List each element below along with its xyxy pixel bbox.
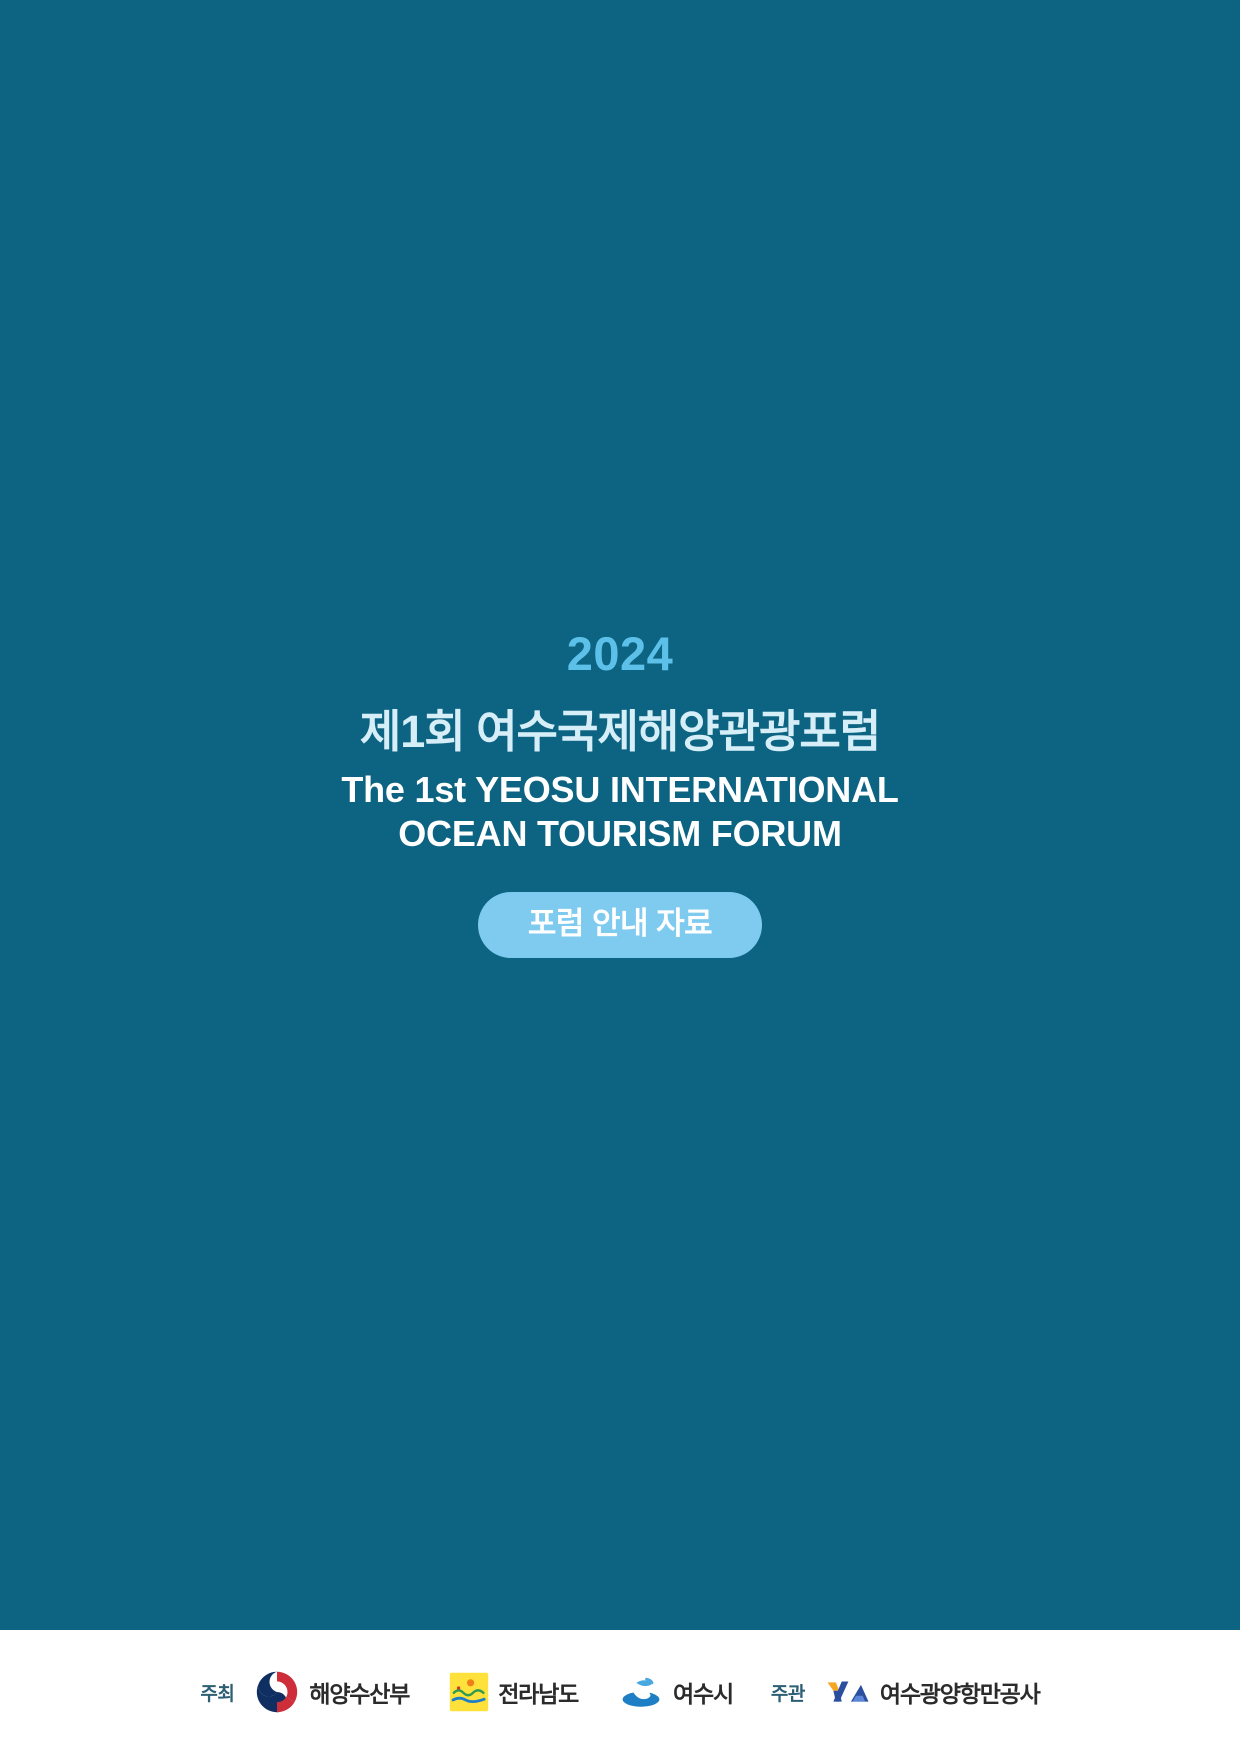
hero-section: 2024 제1회 여수국제해양관광포럼 The 1st YEOSU INTERN… [0, 0, 1240, 1630]
org-name-label: 전라남도 [498, 1675, 578, 1709]
host-label: 주최 [200, 1679, 234, 1706]
forum-title-korean: 제1회 여수국제해양관광포럼 [360, 707, 880, 757]
forum-title-english-line2: OCEAN TOURISM FORUM [341, 812, 898, 856]
forum-year: 2024 [567, 630, 674, 677]
host-group: 주최 해양수산부 [200, 1669, 733, 1715]
jeollanamdo-icon [449, 1672, 489, 1712]
forum-guide-material-button[interactable]: 포럼 안내 자료 [478, 892, 762, 958]
org-jeollanamdo[interactable]: 전라남도 [449, 1672, 578, 1712]
hero-content: 2024 제1회 여수국제해양관광포럼 The 1st YEOSU INTERN… [0, 630, 1240, 958]
org-ministry-of-oceans-and-fisheries[interactable]: 해양수산부 [254, 1669, 409, 1715]
org-yeosu-gwangyang-port-authority[interactable]: 여수광양항만공사 [825, 1669, 1040, 1715]
org-name-label: 여수광양항만공사 [880, 1675, 1040, 1709]
org-yeosu-city[interactable]: 여수시 [618, 1669, 733, 1715]
forum-title-english: The 1st YEOSU INTERNATIONAL OCEAN TOURIS… [341, 768, 898, 856]
org-name-label: 여수시 [673, 1675, 733, 1709]
ygpa-icon [825, 1669, 871, 1715]
sponsor-footer: 주최 해양수산부 [0, 1630, 1240, 1754]
cta-container: 포럼 안내 자료 [478, 892, 762, 958]
forum-title-english-line1: The 1st YEOSU INTERNATIONAL [341, 768, 898, 812]
organizer-group: 주관 여수광양항만공사 [771, 1669, 1040, 1715]
korea-government-taegeuk-icon [254, 1669, 300, 1715]
poster-page: 2024 제1회 여수국제해양관광포럼 The 1st YEOSU INTERN… [0, 0, 1240, 1754]
organizer-label: 주관 [771, 1679, 805, 1706]
yeosu-city-icon [618, 1669, 664, 1715]
org-name-label: 해양수산부 [309, 1675, 409, 1709]
